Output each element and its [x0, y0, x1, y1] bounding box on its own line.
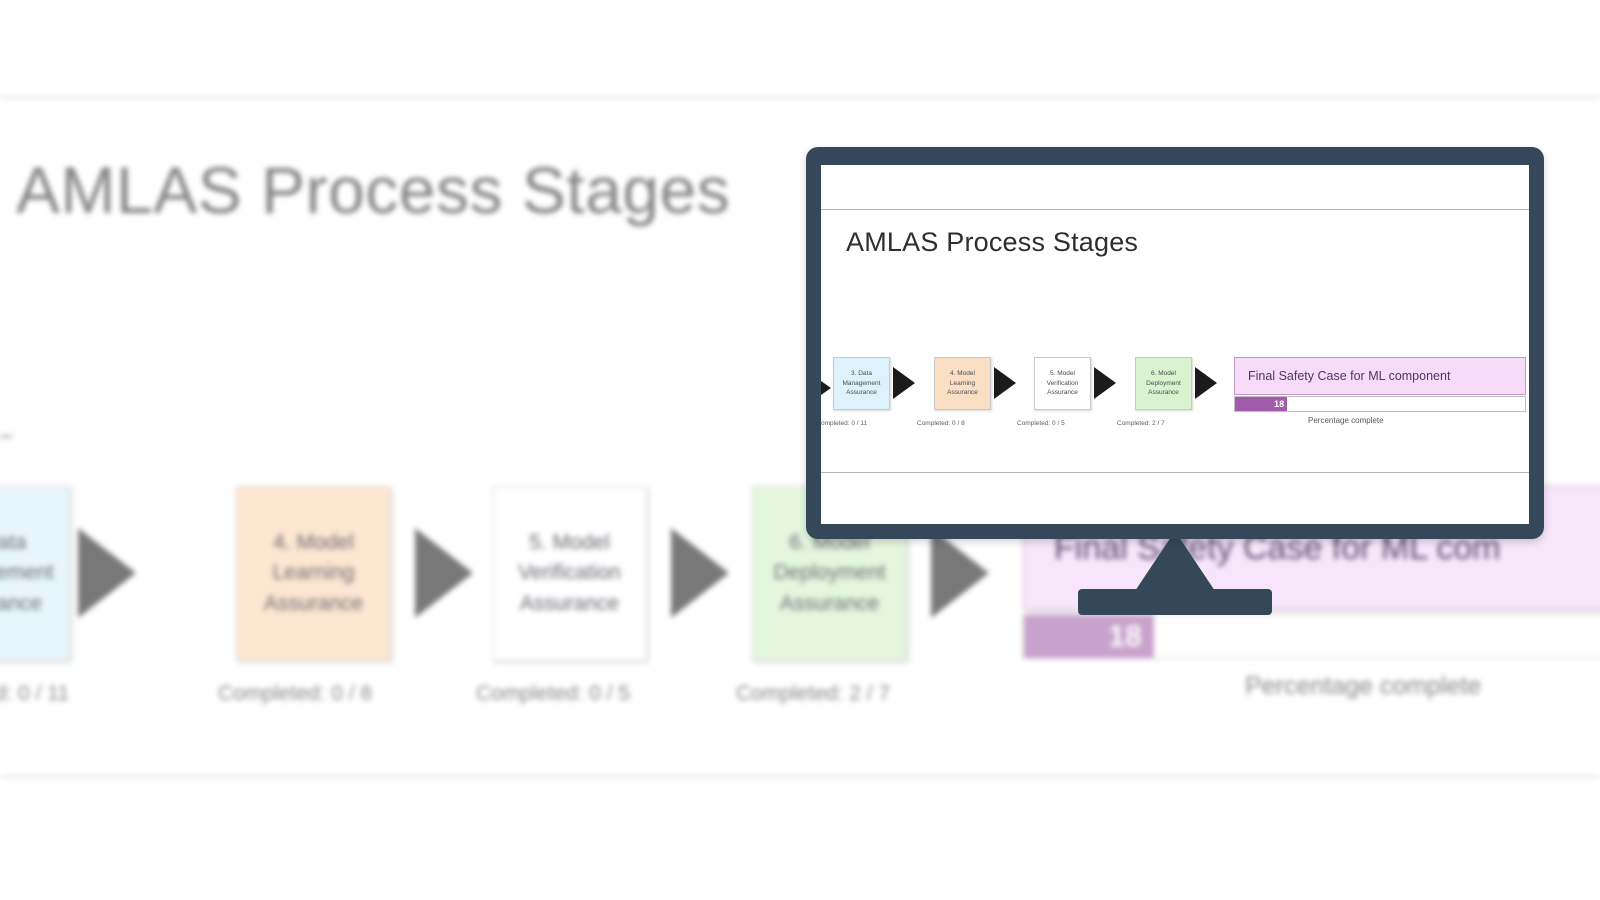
background-progress-fill: 18: [1024, 615, 1154, 658]
background-progress-value: 18: [1108, 620, 1141, 654]
screen-progress-value: 18: [1274, 399, 1284, 409]
screen-completed-5: Completed: 0 / 5: [1017, 420, 1065, 427]
background-bottom-divider: [0, 776, 1600, 778]
screen-slide-title: AMLAS Process Stages: [846, 227, 1138, 258]
monitor-screen: AMLAS Process Stages 3. DataManagementAs…: [821, 165, 1529, 524]
screen-stage-box-3[interactable]: 3. DataManagementAssurance: [833, 357, 890, 410]
background-arrow-stub: [0, 435, 12, 438]
screen-arrow-5-icon: [1094, 367, 1116, 399]
screen-progress-fill: 18: [1235, 397, 1287, 411]
background-stage-label-3: 3. DataManagementAssurance: [0, 528, 54, 619]
screen-progress-track: 18: [1234, 396, 1526, 412]
screen-stage-label-4: 4. ModelLearningAssurance: [947, 369, 978, 398]
background-arrow-3: [78, 528, 136, 618]
screen-completed-3: ompleted: 0 / 11: [821, 420, 867, 427]
background-arrow-5: [671, 528, 729, 618]
screen-stage-box-5[interactable]: 5. ModelVerificationAssurance: [1034, 357, 1091, 410]
background-stage-label-4: 4. ModelLearningAssurance: [264, 528, 363, 619]
background-top-divider: [0, 97, 1600, 99]
screen-completed-4: Completed: 0 / 8: [917, 420, 965, 427]
background-progress-track: 18: [1023, 614, 1600, 659]
background-stage-box-5: 5. ModelVerificationAssurance: [492, 486, 647, 661]
background-stage-label-6: 6. ModelDeploymentAssurance: [773, 528, 885, 619]
screenshot-root: AMLAS Process Stages 3. DataManagementAs…: [0, 0, 1600, 900]
screen-arrow-6-icon: [1195, 367, 1217, 399]
background-progress-caption: Percentage complete: [1245, 672, 1481, 701]
screen-stage-label-3: 3. DataManagementAssurance: [843, 369, 881, 398]
screen-process-flow: 3. DataManagementAssurance ompleted: 0 /…: [821, 357, 1529, 467]
screen-stage-label-6: 6. ModelDeploymentAssurance: [1146, 369, 1181, 398]
screen-final-safety-case-label: Final Safety Case for ML component: [1248, 369, 1450, 383]
screen-progress-caption: Percentage complete: [1308, 416, 1384, 425]
screen-completed-6: Completed: 2 / 7: [1117, 420, 1165, 427]
screen-arrow-3-icon: [893, 367, 915, 399]
screen-final-safety-case-box[interactable]: Final Safety Case for ML component: [1234, 357, 1526, 395]
screen-stage-box-4[interactable]: 4. ModelLearningAssurance: [934, 357, 991, 410]
background-slide-title: AMLAS Process Stages: [16, 152, 730, 228]
background-completed-4: Completed: 0 / 8: [218, 682, 372, 706]
background-arrow-4: [415, 528, 473, 618]
screen-arrow-4-icon: [994, 367, 1016, 399]
background-completed-6: Completed: 2 / 7: [736, 682, 890, 706]
screen-top-divider: [821, 209, 1529, 210]
screen-stage-label-5: 5. ModelVerificationAssurance: [1047, 369, 1079, 398]
screen-bottom-divider: [821, 472, 1529, 473]
screen-arrow-stub-icon: [821, 381, 831, 395]
background-arrow-6: [931, 528, 989, 618]
monitor-stand-base: [1078, 589, 1272, 615]
background-stage-label-5: 5. ModelVerificationAssurance: [518, 528, 621, 619]
screen-stage-box-6[interactable]: 6. ModelDeploymentAssurance: [1135, 357, 1192, 410]
background-stage-box-3: 3. DataManagementAssurance: [0, 486, 70, 661]
background-stage-box-4: 4. ModelLearningAssurance: [236, 486, 391, 661]
monitor: AMLAS Process Stages 3. DataManagementAs…: [806, 147, 1544, 539]
background-completed-3: ompleted: 0 / 11: [0, 682, 69, 706]
background-completed-5: Completed: 0 / 5: [476, 682, 630, 706]
